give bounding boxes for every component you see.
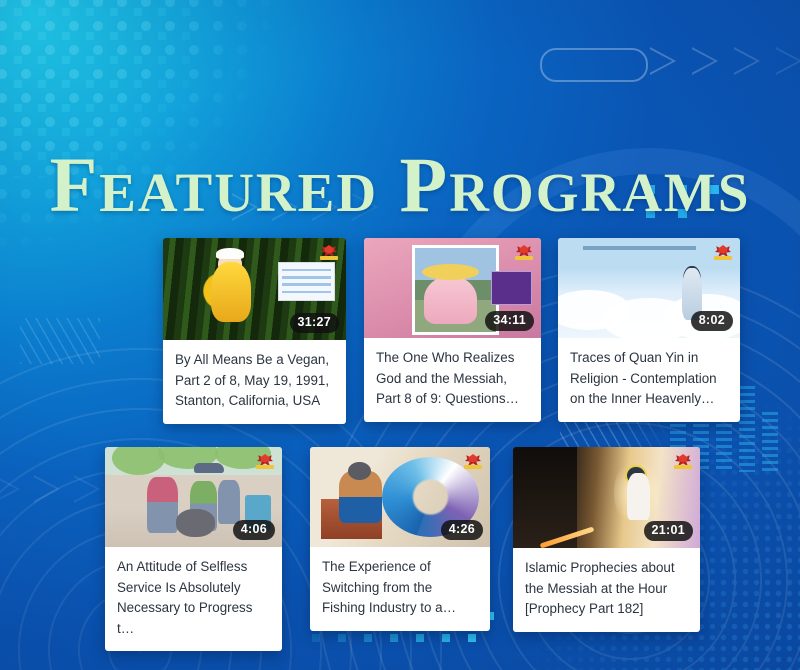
play-triangle-row-top-right [650,47,800,75]
video-card[interactable]: 34:11 The One Who Realizes God and the M… [364,238,541,422]
video-card[interactable]: 4:26 The Experience of Switching from th… [310,447,490,631]
video-thumbnail[interactable]: 4:06 [105,447,282,547]
video-card[interactable]: 8:02 Traces of Quan Yin in Religion - Co… [558,238,740,422]
lotus-flame-logo-icon [711,241,735,261]
lotus-flame-logo-icon [512,241,536,261]
play-triangle-icon [776,47,800,75]
video-title[interactable]: By All Means Be a Vegan, Part 2 of 8, Ma… [175,350,334,412]
video-card[interactable]: 31:27 By All Means Be a Vegan, Part 2 of… [163,238,346,424]
video-meta: The One Who Realizes God and the Messiah… [364,338,541,422]
lotus-flame-logo-icon [253,450,277,470]
video-thumbnail[interactable]: 34:11 [364,238,541,338]
video-card[interactable]: 4:06 An Attitude of Selfless Service Is … [105,447,282,651]
diagonal-hatch-lines-left [20,318,100,364]
play-triangle-icon [650,47,676,75]
page-title: Featured Programs [0,140,800,230]
lotus-flame-logo-icon [317,241,341,261]
video-title[interactable]: The One Who Realizes God and the Messiah… [376,348,529,410]
video-card[interactable]: 21:01 Islamic Prophecies about the Messi… [513,447,700,632]
play-triangle-icon [692,47,718,75]
play-triangle-icon [34,475,60,503]
video-duration-badge: 31:27 [290,313,339,333]
video-thumbnail[interactable]: 4:26 [310,447,490,547]
lotus-flame-logo-icon [461,450,485,470]
video-duration-badge: 21:01 [644,521,693,541]
video-meta: By All Means Be a Vegan, Part 2 of 8, Ma… [163,340,346,424]
video-thumbnail[interactable]: 21:01 [513,447,700,548]
play-triangle-icon [74,475,100,503]
video-duration-badge: 4:26 [441,520,483,540]
video-duration-badge: 4:06 [233,520,275,540]
rounded-pill-outline-icon [540,48,648,82]
video-thumbnail[interactable]: 8:02 [558,238,740,338]
lotus-flame-logo-icon [671,450,695,470]
play-triangle-icon [734,47,760,75]
video-title[interactable]: The Experience of Switching from the Fis… [322,557,478,619]
video-duration-badge: 34:11 [485,311,534,331]
video-meta: Traces of Quan Yin in Religion - Contemp… [558,338,740,422]
featured-programs-page: Featured Programs 31:27 By All Means Be … [0,0,800,670]
video-title[interactable]: Islamic Prophecies about the Messiah at … [525,558,688,620]
play-triangle-row-bottom-left [0,475,100,503]
video-duration-badge: 8:02 [691,311,733,331]
video-thumbnail[interactable]: 31:27 [163,238,346,340]
video-meta: An Attitude of Selfless Service Is Absol… [105,547,282,651]
video-title[interactable]: An Attitude of Selfless Service Is Absol… [117,557,270,639]
video-meta: The Experience of Switching from the Fis… [310,547,490,631]
video-meta: Islamic Prophecies about the Messiah at … [513,548,700,632]
play-triangle-icon [0,475,20,503]
video-title[interactable]: Traces of Quan Yin in Religion - Contemp… [570,348,728,410]
